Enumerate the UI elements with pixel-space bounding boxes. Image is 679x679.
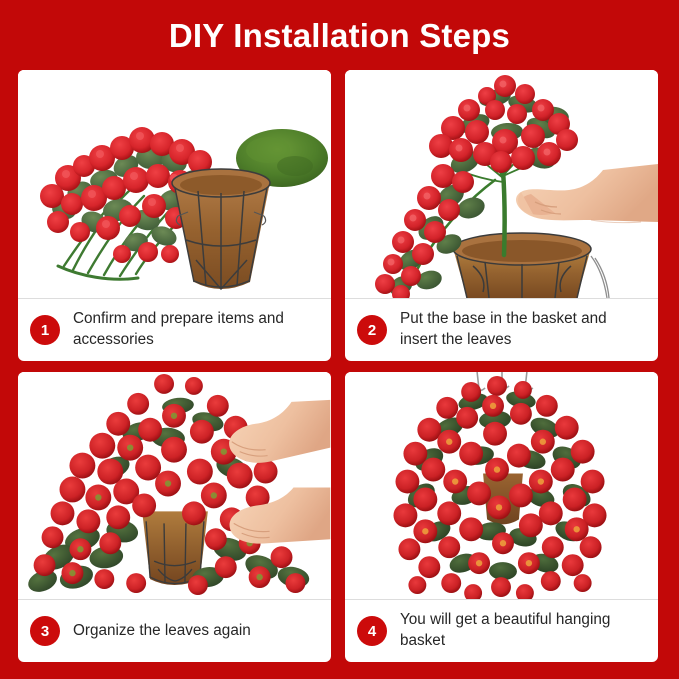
step-image-2 bbox=[345, 70, 658, 298]
step-image-1 bbox=[18, 70, 331, 298]
step-number-badge: 1 bbox=[30, 315, 60, 345]
page-title: DIY Installation Steps bbox=[169, 19, 510, 52]
page-header: DIY Installation Steps bbox=[0, 0, 679, 70]
step-number-badge: 3 bbox=[30, 616, 60, 646]
step-caption-3: 3 Organize the leaves again bbox=[18, 599, 331, 662]
steps-grid: 1 Confirm and prepare items and accessor… bbox=[18, 70, 661, 662]
step-caption-4: 4 You will get a beautiful hanging baske… bbox=[345, 599, 658, 662]
illustration-flowers-basket-moss bbox=[18, 70, 331, 298]
step-description: You will get a beautiful hanging basket bbox=[400, 610, 648, 651]
step-image-3 bbox=[18, 372, 331, 599]
step-card-1[interactable]: 1 Confirm and prepare items and accessor… bbox=[18, 70, 331, 361]
step-card-3[interactable]: 3 Organize the leaves again bbox=[18, 372, 331, 662]
step-description: Confirm and prepare items and accessorie… bbox=[73, 309, 321, 350]
step-card-2[interactable]: 2 Put the base in the basket and insert … bbox=[345, 70, 658, 361]
step-number-badge: 2 bbox=[357, 315, 387, 345]
step-number-badge: 4 bbox=[357, 616, 387, 646]
step-image-4 bbox=[345, 372, 658, 599]
step-caption-1: 1 Confirm and prepare items and accessor… bbox=[18, 298, 331, 361]
step-description: Put the base in the basket and insert th… bbox=[400, 309, 648, 350]
step-card-4[interactable]: 4 You will get a beautiful hanging baske… bbox=[345, 372, 658, 662]
page-root: DIY Installation Steps bbox=[0, 0, 679, 679]
illustration-finished-hanging-basket bbox=[345, 372, 658, 599]
illustration-hands-arranging-basket bbox=[18, 372, 331, 599]
step-description: Organize the leaves again bbox=[73, 621, 321, 642]
illustration-hand-inserting-bush bbox=[345, 70, 658, 298]
step-caption-2: 2 Put the base in the basket and insert … bbox=[345, 298, 658, 361]
